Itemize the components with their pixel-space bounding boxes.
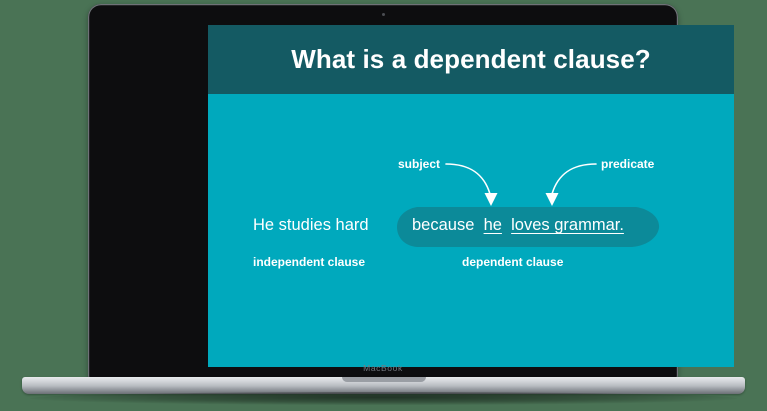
independent-clause-caption: independent clause: [253, 255, 365, 269]
laptop-base-notch: [342, 377, 426, 382]
dependent-clause-text: because he loves grammar.: [412, 216, 624, 235]
slide-header: What is a dependent clause?: [208, 25, 734, 94]
sentence-row: He studies hard because he loves grammar…: [208, 206, 734, 248]
laptop-shadow: [30, 392, 737, 405]
slide-body: He studies hard because he loves grammar…: [208, 94, 734, 367]
independent-clause-text: He studies hard: [253, 216, 369, 235]
macbook-wordmark: MacBook: [88, 363, 678, 373]
subject-word: he: [484, 216, 502, 234]
predicate-arrow-icon: [546, 164, 597, 206]
dependent-clause-caption: dependent clause: [462, 255, 563, 269]
slide-title: What is a dependent clause?: [291, 44, 651, 75]
subject-annotation-label: subject: [398, 157, 440, 171]
laptop-lid: What is a dependent clause? He studies h…: [88, 4, 678, 380]
laptop-mockup: What is a dependent clause? He studies h…: [0, 0, 767, 411]
predicate-annotation-label: predicate: [601, 157, 654, 171]
webcam-icon: [382, 13, 385, 16]
predicate-words: loves grammar.: [511, 216, 624, 234]
laptop-screen: What is a dependent clause? He studies h…: [208, 25, 734, 367]
subject-arrow-icon: [446, 164, 498, 206]
conjunction-word: because: [412, 216, 474, 234]
